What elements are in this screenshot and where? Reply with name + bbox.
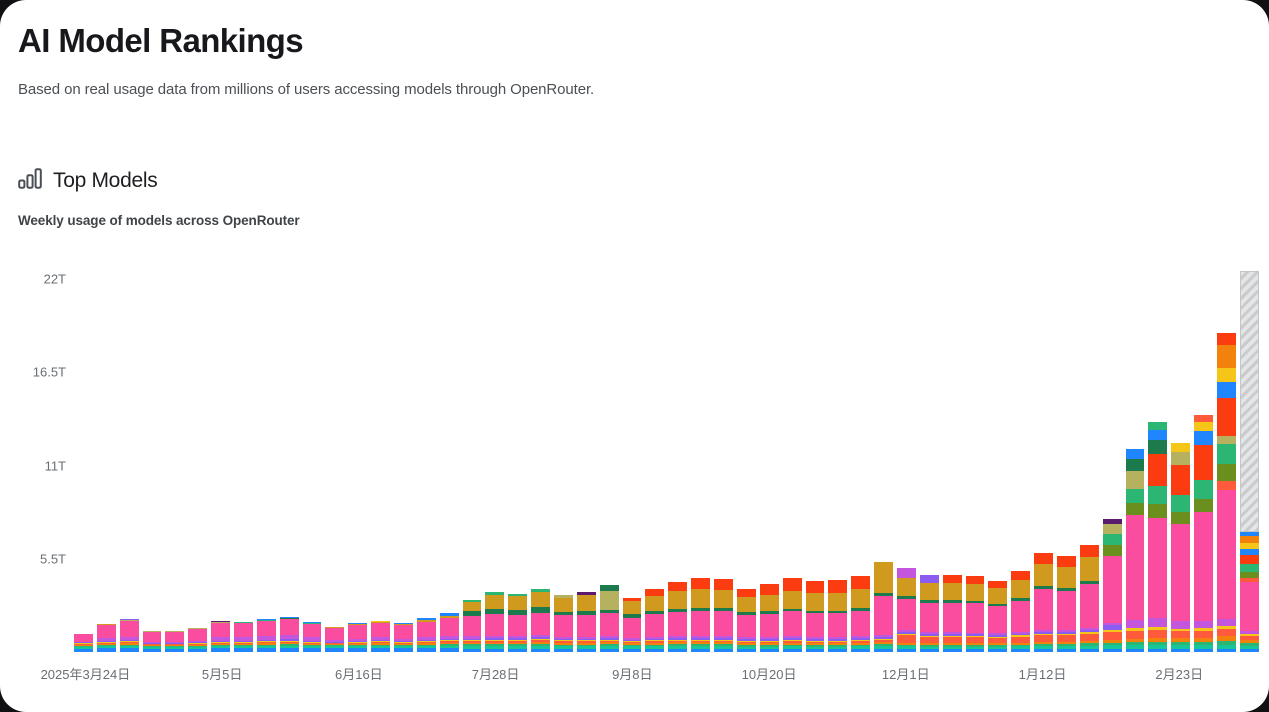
bar-segment <box>1034 589 1053 630</box>
bar-segment <box>1171 443 1190 452</box>
bar-segment <box>348 648 367 652</box>
table-row[interactable] <box>691 578 710 652</box>
bar-segment <box>668 649 687 652</box>
bar-segment <box>943 649 962 652</box>
table-row[interactable] <box>211 621 230 652</box>
bar-segment <box>1217 481 1236 490</box>
bar-segment <box>1217 333 1236 345</box>
bar-segment <box>577 595 596 611</box>
bar-segment <box>325 648 344 652</box>
bar-segment <box>1126 620 1145 628</box>
bar-segment <box>1217 464 1236 481</box>
x-axis: 2025年3月24日5月5日6月16日7月28日9月8日10月20日12月1日1… <box>74 664 1259 694</box>
bar-segment <box>1217 398 1236 436</box>
table-row[interactable] <box>1240 532 1259 652</box>
bar-segment <box>1194 431 1213 445</box>
bar-segment <box>463 602 482 611</box>
bar-segment <box>737 615 756 638</box>
bar-segment <box>1148 618 1167 627</box>
table-row[interactable] <box>1034 553 1053 652</box>
table-row[interactable] <box>1126 449 1145 652</box>
table-row[interactable] <box>874 562 893 652</box>
table-row[interactable] <box>280 617 299 652</box>
bar-segment <box>1148 440 1167 454</box>
table-row[interactable] <box>508 594 527 652</box>
bar-segment <box>806 649 825 652</box>
bar-segment <box>1194 621 1213 629</box>
bar-segment <box>714 579 733 590</box>
bar-segment <box>1011 571 1030 580</box>
bar-segment <box>485 614 504 636</box>
bar-segment <box>691 649 710 652</box>
y-axis-tick: 22T <box>4 272 66 287</box>
table-row[interactable] <box>371 621 390 652</box>
bar-segment <box>165 632 184 642</box>
bar-segment <box>760 584 779 595</box>
bar-segment <box>1171 495 1190 512</box>
table-row[interactable] <box>623 598 642 652</box>
bar-segment <box>737 597 756 612</box>
bar-segment <box>943 603 962 633</box>
bar-segment <box>280 648 299 652</box>
bar-segment <box>760 649 779 652</box>
bar-segment <box>1057 591 1076 630</box>
bar-segment <box>257 648 276 652</box>
bar-segment <box>1103 545 1122 555</box>
bar-segment <box>188 649 207 652</box>
bar-segment <box>165 649 184 652</box>
bar-segment <box>1171 512 1190 525</box>
bar-segment <box>1126 449 1145 459</box>
bar-segment <box>966 649 985 652</box>
table-row[interactable] <box>74 634 93 652</box>
bar-segment <box>554 649 573 652</box>
table-row[interactable] <box>1217 333 1236 652</box>
table-row[interactable] <box>257 619 276 652</box>
bar-segment <box>1103 649 1122 652</box>
bar-segment <box>577 615 596 637</box>
bar-segment <box>303 648 322 652</box>
table-row[interactable] <box>1080 545 1099 652</box>
bar-segment <box>1194 512 1213 620</box>
bar-segment <box>966 603 985 632</box>
bar-segment <box>508 649 527 652</box>
bar-segment <box>623 618 642 638</box>
bar-segment <box>1171 649 1190 652</box>
bar-segment <box>714 611 733 636</box>
bar-segment <box>1171 465 1190 495</box>
table-row[interactable] <box>1103 519 1122 652</box>
bar-segment <box>828 649 847 652</box>
bar-segment <box>74 634 93 641</box>
table-row[interactable] <box>417 618 436 652</box>
bar-segment <box>645 649 664 652</box>
bar-segment <box>1103 556 1122 624</box>
ai-model-rankings-card: AI Model Rankings Based on real usage da… <box>0 0 1269 712</box>
bar-segment <box>257 621 276 636</box>
y-axis-tick: 11T <box>4 458 66 473</box>
bar-segment <box>394 648 413 652</box>
bar-segment <box>1194 480 1213 499</box>
bar-segment <box>897 578 916 597</box>
bar-segment <box>1194 422 1213 430</box>
bar-segment <box>1194 415 1213 423</box>
table-row[interactable] <box>897 568 916 652</box>
bar-segment <box>440 618 459 636</box>
bar-segment <box>1034 635 1053 642</box>
table-row[interactable] <box>988 581 1007 652</box>
bar-segment <box>1217 619 1236 626</box>
bar-segment <box>1240 649 1259 652</box>
plot-area <box>74 252 1259 652</box>
bar-segment <box>120 621 139 637</box>
bar-segment <box>371 623 390 638</box>
bar-segment <box>874 596 893 636</box>
table-row[interactable] <box>554 595 573 652</box>
table-row[interactable] <box>348 623 367 652</box>
table-row[interactable] <box>1148 422 1167 652</box>
bar-segment <box>920 583 939 600</box>
bar-segment <box>714 590 733 609</box>
bar-segment <box>600 649 619 652</box>
bar-segment <box>851 649 870 652</box>
bar-segment <box>463 649 482 652</box>
bar-segment <box>508 615 527 637</box>
table-row[interactable] <box>463 600 482 652</box>
bar-segment <box>1103 534 1122 545</box>
bar-segment <box>1034 564 1053 586</box>
bar-segment <box>120 648 139 652</box>
bar-segment <box>1034 553 1053 565</box>
bar-segment <box>1148 454 1167 486</box>
bar-segment <box>234 648 253 652</box>
table-row[interactable] <box>165 631 184 652</box>
bar-segment <box>668 582 687 591</box>
bar-segment <box>508 596 527 610</box>
bar-segment <box>1194 631 1213 638</box>
bar-segment <box>325 628 344 640</box>
x-axis-tick: 1月12日 <box>1019 664 1067 683</box>
bar-segment <box>1217 382 1236 398</box>
bar-segment <box>1148 486 1167 505</box>
table-row[interactable] <box>645 589 664 652</box>
bar-segment <box>760 595 779 612</box>
bar-segment <box>851 576 870 590</box>
table-row[interactable] <box>783 578 802 652</box>
top-models-chart: 22T16.5T11T5.5T 2025年3月24日5月5日6月16日7月28日… <box>0 252 1269 712</box>
bar-segment <box>737 649 756 652</box>
bar-segment <box>1240 582 1259 631</box>
bar-segment <box>988 649 1007 652</box>
bar-segment <box>943 583 962 600</box>
table-row[interactable] <box>531 589 550 652</box>
y-axis: 22T16.5T11T5.5T <box>0 252 66 652</box>
bar-segment <box>623 601 642 614</box>
bar-segment <box>1217 490 1236 619</box>
table-row[interactable] <box>234 622 253 652</box>
bar-segment <box>737 589 756 597</box>
table-row[interactable] <box>668 582 687 652</box>
bar-segment <box>485 595 504 609</box>
table-row[interactable] <box>828 580 847 652</box>
bar-segment <box>1217 444 1236 463</box>
bar-segment <box>485 649 504 652</box>
bar-segment <box>1126 631 1145 639</box>
bar-chart-icon <box>18 168 42 194</box>
bar-segment <box>828 593 847 611</box>
bar-segment <box>1034 649 1053 652</box>
bar-segment <box>645 614 664 637</box>
bar-segment <box>783 611 802 636</box>
bar-segment <box>463 616 482 636</box>
bar-segment <box>74 649 93 652</box>
bar-segment <box>1126 489 1145 503</box>
bar-segment <box>211 623 230 638</box>
bar-segment <box>988 581 1007 589</box>
bar-segment <box>280 619 299 635</box>
bar-segment <box>554 598 573 612</box>
bar-segment <box>1171 524 1190 621</box>
table-row[interactable] <box>714 579 733 652</box>
bar-segment <box>1217 629 1236 637</box>
bar-segment <box>1011 580 1030 598</box>
bar-segment <box>1057 567 1076 588</box>
table-row[interactable] <box>966 576 985 652</box>
bar-segment <box>531 592 550 608</box>
table-row[interactable] <box>303 622 322 652</box>
bar-segment <box>1240 564 1259 571</box>
table-row[interactable] <box>1171 443 1190 652</box>
bar-segment <box>943 575 962 583</box>
bar-segment <box>577 649 596 652</box>
bar-segment <box>1148 630 1167 638</box>
table-row[interactable] <box>806 581 825 652</box>
section-title: Top Models <box>53 169 157 193</box>
bar-segment <box>1103 632 1122 640</box>
bar-segment <box>1057 649 1076 652</box>
table-row[interactable] <box>97 624 116 652</box>
x-axis-tick: 2025年3月24日 <box>41 664 131 683</box>
bar-segment <box>1126 515 1145 620</box>
table-row[interactable] <box>851 576 870 652</box>
table-row[interactable] <box>1057 556 1076 653</box>
bar-segment <box>851 611 870 637</box>
bar-segment <box>143 649 162 652</box>
bar-segment <box>531 649 550 652</box>
bar-segment <box>874 567 893 593</box>
x-axis-tick: 10月20日 <box>742 664 797 683</box>
bar-segment <box>417 622 436 638</box>
table-row[interactable] <box>440 613 459 652</box>
section-subtitle: Weekly usage of models across OpenRouter <box>18 213 300 228</box>
table-row[interactable] <box>737 589 756 652</box>
bar-segment <box>600 591 619 610</box>
bar-segment <box>1148 430 1167 440</box>
bar-segment <box>1080 557 1099 581</box>
bar-segment <box>1194 649 1213 652</box>
bar-segment <box>1194 445 1213 480</box>
bar-segment <box>760 614 779 638</box>
bar-segment <box>806 581 825 593</box>
bar-segment <box>1080 545 1099 558</box>
bar-segment <box>897 568 916 577</box>
bar-segment <box>668 591 687 609</box>
bar-segment <box>1126 503 1145 515</box>
bar-segment <box>143 632 162 642</box>
x-axis-tick: 2月23日 <box>1155 664 1203 683</box>
bar-segment <box>554 615 573 636</box>
bar-segment <box>783 578 802 591</box>
table-row[interactable] <box>394 623 413 652</box>
bar-segment <box>1126 649 1145 652</box>
bar-segment <box>371 648 390 652</box>
bar-segment <box>417 648 436 652</box>
section-header: Top Models <box>18 168 157 194</box>
bar-segment <box>1217 368 1236 382</box>
bar-segment <box>1148 422 1167 430</box>
bar-segment <box>828 613 847 638</box>
bar-segment <box>1011 601 1030 632</box>
x-axis-tick: 9月8日 <box>612 664 652 683</box>
bar-segment <box>828 580 847 593</box>
bar-segment <box>920 575 939 583</box>
bar-segment <box>1011 649 1030 652</box>
table-row[interactable] <box>577 592 596 652</box>
bar-segment <box>623 649 642 652</box>
y-axis-tick: 16.5T <box>4 365 66 380</box>
bar-segment <box>1240 555 1259 564</box>
bar-segment <box>1148 504 1167 518</box>
bar-segment <box>1080 584 1099 628</box>
bar-segment <box>645 596 664 612</box>
table-row[interactable] <box>143 631 162 652</box>
y-axis-tick: 5.5T <box>4 551 66 566</box>
bar-segment <box>97 625 116 638</box>
bar-segment <box>1217 649 1236 652</box>
bar-segment <box>1148 518 1167 618</box>
table-row[interactable] <box>1011 571 1030 652</box>
table-row[interactable] <box>325 627 344 652</box>
table-row[interactable] <box>943 575 962 652</box>
bar-segment <box>394 625 413 639</box>
bar-segment <box>897 599 916 630</box>
table-row[interactable] <box>485 592 504 652</box>
bar-group <box>74 252 1259 652</box>
bar-segment <box>1217 345 1236 368</box>
x-axis-tick: 12月1日 <box>882 664 930 683</box>
bar-segment <box>988 588 1007 604</box>
bar-segment <box>920 603 939 633</box>
bar-segment <box>668 612 687 637</box>
bar-segment <box>188 629 207 641</box>
bar-segment <box>691 578 710 589</box>
partial-week-overlay <box>1240 271 1259 532</box>
bar-segment <box>531 613 550 636</box>
bar-segment <box>1103 524 1122 535</box>
bar-segment <box>97 648 116 652</box>
bar-segment <box>1171 452 1190 465</box>
bar-segment <box>1171 631 1190 638</box>
bar-segment <box>1057 556 1076 568</box>
bar-segment <box>211 648 230 652</box>
table-row[interactable] <box>920 575 939 652</box>
bar-segment <box>783 591 802 609</box>
bar-segment <box>1148 649 1167 652</box>
bar-segment <box>691 611 710 636</box>
bar-segment <box>1057 635 1076 642</box>
bar-segment <box>783 649 802 652</box>
bar-segment <box>874 649 893 652</box>
x-axis-tick: 7月28日 <box>472 664 520 683</box>
table-row[interactable] <box>600 585 619 652</box>
bar-segment <box>966 584 985 601</box>
table-row[interactable] <box>188 628 207 653</box>
bar-segment <box>1126 471 1145 489</box>
bar-segment <box>897 635 916 643</box>
bar-segment <box>1080 634 1099 641</box>
bar-segment <box>600 613 619 636</box>
bar-segment <box>1217 436 1236 444</box>
bar-segment <box>806 613 825 638</box>
bar-segment <box>966 576 985 584</box>
bar-segment <box>1240 536 1259 543</box>
page-subtitle: Based on real usage data from millions o… <box>18 81 594 98</box>
bar-segment <box>1126 459 1145 471</box>
bar-segment <box>920 649 939 652</box>
bar-segment <box>348 625 367 639</box>
bar-segment <box>897 649 916 652</box>
bar-segment <box>303 624 322 638</box>
x-axis-tick: 5月5日 <box>202 664 242 683</box>
table-row[interactable] <box>120 619 139 652</box>
bar-segment <box>691 589 710 608</box>
bar-segment <box>988 606 1007 633</box>
bar-segment <box>1171 621 1190 629</box>
bar-segment <box>806 593 825 610</box>
x-axis-tick: 6月16日 <box>335 664 383 683</box>
bar-segment <box>234 623 253 637</box>
page-title: AI Model Rankings <box>18 22 303 60</box>
bar-segment <box>440 648 459 652</box>
table-row[interactable] <box>760 584 779 652</box>
table-row[interactable] <box>1194 415 1213 652</box>
bar-segment <box>1194 499 1213 513</box>
bar-segment <box>851 589 870 608</box>
bar-segment <box>1080 649 1099 652</box>
bar-segment <box>714 649 733 652</box>
